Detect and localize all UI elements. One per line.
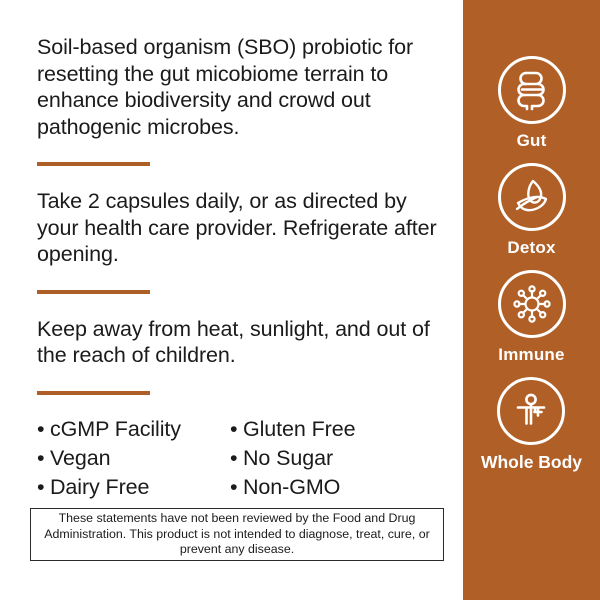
claim-label: Non-GMO (243, 475, 340, 499)
list-item: •Gluten Free (230, 415, 355, 444)
human-body-plus-icon (497, 377, 565, 445)
leaf-icon (498, 163, 566, 231)
bullet-icon: • (230, 415, 243, 444)
list-item: •Dairy Free (37, 473, 230, 502)
list-item: •Vegan (37, 444, 230, 473)
bullet-icon: • (37, 444, 50, 473)
claim-label: Vegan (50, 446, 110, 470)
list-item: •Non-GMO (230, 473, 355, 502)
supplement-label-panel: Soil-based organism (SBO) probiotic for … (0, 0, 600, 600)
claims-lists: •cGMP Facility •Vegan •Dairy Free •Glute… (37, 415, 463, 502)
spacer (37, 294, 463, 316)
info-column: Soil-based organism (SBO) probiotic for … (0, 0, 463, 600)
claims-column-1: •cGMP Facility •Vegan •Dairy Free (37, 415, 230, 502)
description-paragraph: Soil-based organism (SBO) probiotic for … (37, 34, 449, 140)
benefit-label: Detox (507, 238, 555, 258)
claim-label: No Sugar (243, 446, 333, 470)
list-item: •No Sugar (230, 444, 355, 473)
benefit-whole-body: Whole Body (481, 377, 582, 473)
bullet-icon: • (37, 415, 50, 444)
spacer (37, 140, 463, 162)
claim-label: cGMP Facility (50, 417, 181, 441)
fda-disclaimer-box: These statements have not been reviewed … (30, 508, 444, 561)
spacer (37, 268, 463, 290)
directions-paragraph: Take 2 capsules daily, or as directed by… (37, 188, 449, 268)
bullet-icon: • (230, 473, 243, 502)
benefits-panel: Gut Detox (463, 0, 600, 600)
intestines-icon (498, 56, 566, 124)
claim-label: Gluten Free (243, 417, 355, 441)
spacer (37, 166, 463, 188)
benefit-label: Immune (498, 345, 564, 365)
benefit-label: Whole Body (481, 452, 582, 473)
virus-cell-icon (498, 270, 566, 338)
claims-column-2: •Gluten Free •No Sugar •Non-GMO (230, 415, 355, 502)
benefit-gut: Gut (498, 56, 566, 151)
bullet-icon: • (230, 444, 243, 473)
benefit-immune: Immune (498, 270, 566, 365)
list-item: •cGMP Facility (37, 415, 230, 444)
claim-label: Dairy Free (50, 475, 149, 499)
bullet-icon: • (37, 473, 50, 502)
spacer (37, 369, 463, 391)
warning-paragraph: Keep away from heat, sunlight, and out o… (37, 316, 449, 369)
benefit-detox: Detox (498, 163, 566, 258)
benefit-label: Gut (517, 131, 547, 151)
accent-divider-3 (37, 391, 150, 395)
fda-disclaimer-text: These statements have not been reviewed … (37, 511, 437, 558)
